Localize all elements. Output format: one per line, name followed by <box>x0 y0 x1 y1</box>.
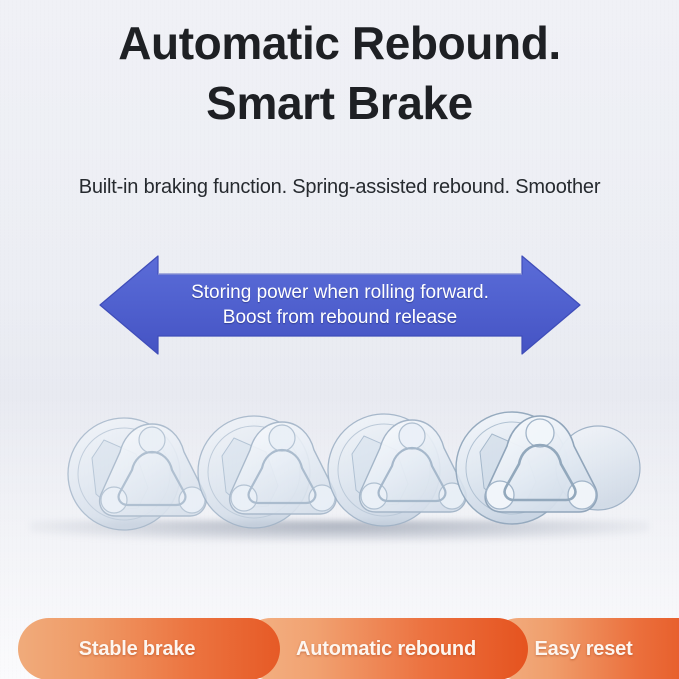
badge-label: Stable brake <box>79 638 196 661</box>
arrow-banner-text: Storing power when rolling forward. Boos… <box>96 280 584 330</box>
page-title-line-1: Automatic Rebound. <box>0 16 679 70</box>
arrow-banner: Storing power when rolling forward. Boos… <box>96 252 584 358</box>
feature-badge-strip: Stable brake Automatic rebound Easy rese… <box>18 618 679 679</box>
arrow-text-line-1: Storing power when rolling forward. <box>96 280 584 305</box>
badge-stable-brake[interactable]: Stable brake <box>18 618 280 679</box>
subtitle-text: Built-in braking function. Spring-assist… <box>0 176 679 199</box>
page-title-line-2: Smart Brake <box>0 76 679 130</box>
badge-automatic-rebound[interactable]: Automatic rebound <box>240 618 528 679</box>
arrow-text-line-2: Boost from rebound release <box>96 305 584 330</box>
product-visual <box>0 388 679 568</box>
badge-label: Automatic rebound <box>296 638 476 661</box>
badge-label: Easy reset <box>534 638 632 661</box>
caster-wheel-icon-4 <box>440 390 636 540</box>
caster-wheel-icon <box>440 390 636 540</box>
product-feature-poster: Automatic Rebound. Smart Brake Built-in … <box>0 0 679 679</box>
heading-block: Automatic Rebound. Smart Brake <box>0 16 679 131</box>
